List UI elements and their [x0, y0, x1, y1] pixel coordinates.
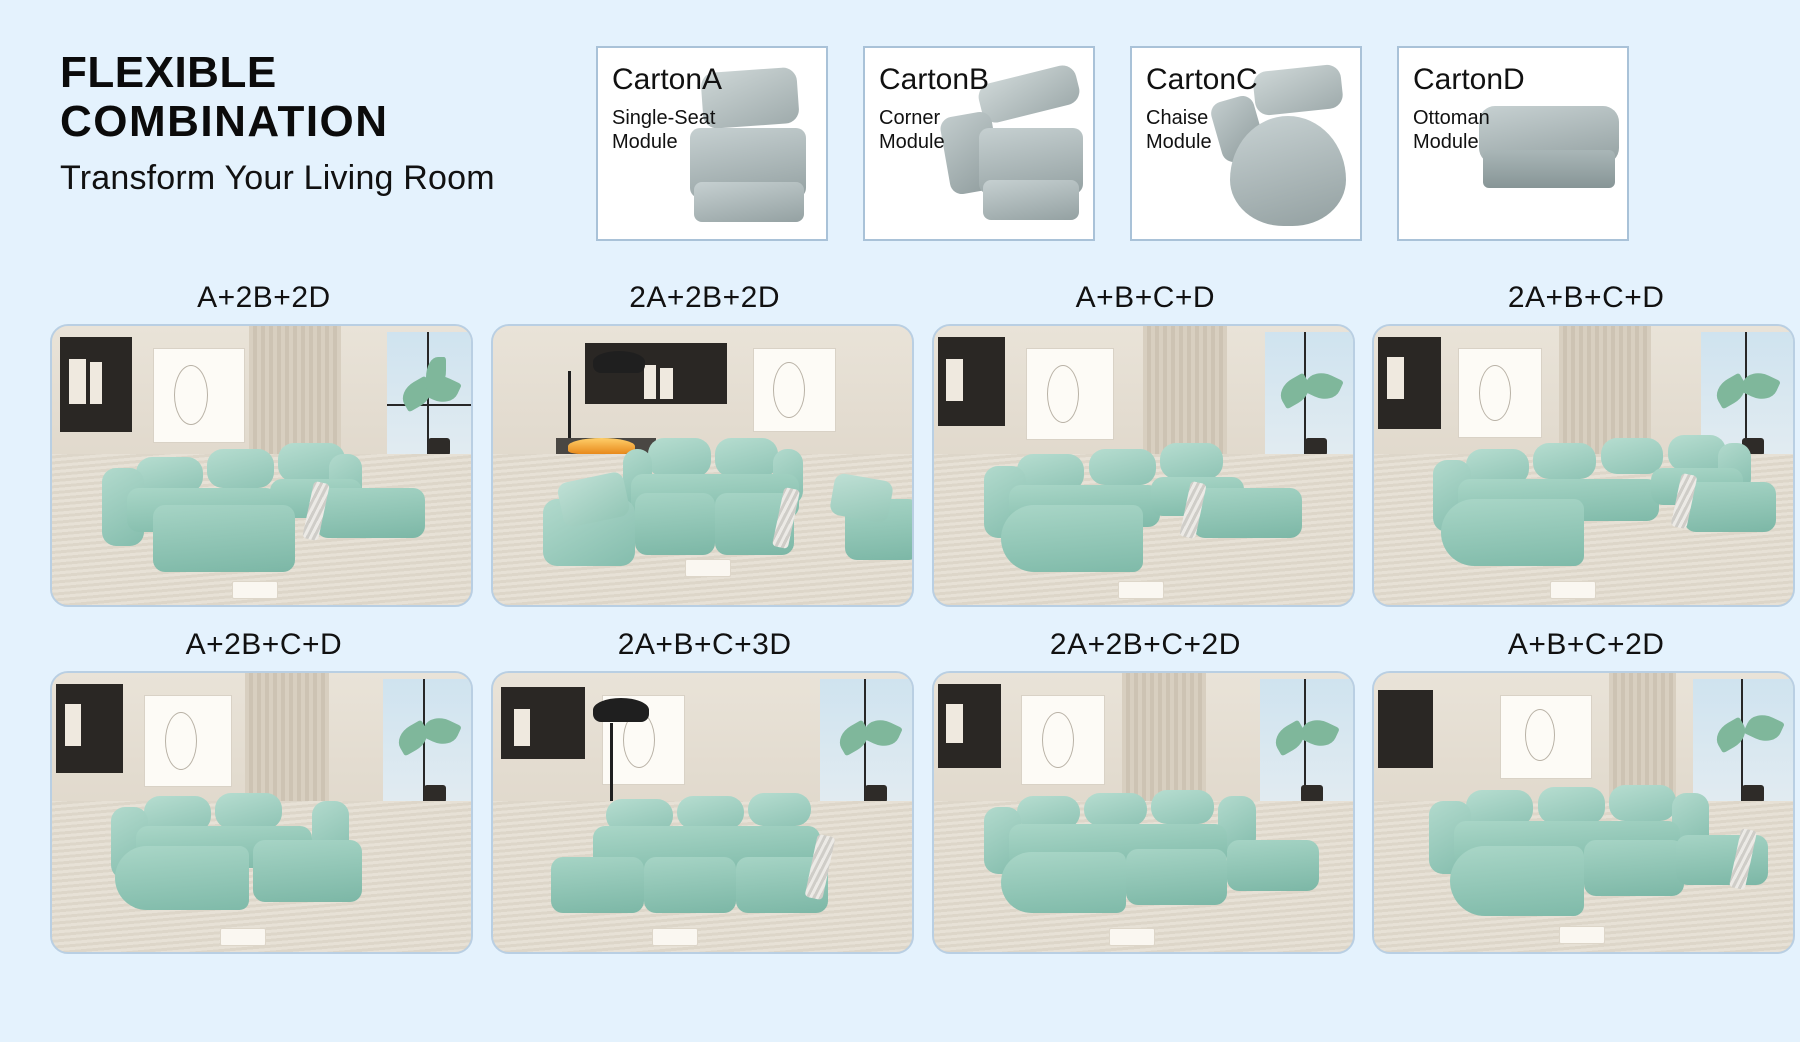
carton-b-desc: Corner Module: [879, 106, 1004, 155]
room-scene: [934, 673, 1353, 952]
carton-d-name: CartonD: [1413, 64, 1538, 96]
room-scene: [52, 326, 471, 605]
carton-b-name: CartonB: [879, 64, 1004, 96]
combination-cell-a2b2d[interactable]: A+2B+2D: [50, 272, 478, 607]
room-scene: [1374, 673, 1793, 952]
carton-card-b: CartonB Corner Module: [863, 46, 1095, 241]
page-subtitle: Transform Your Living Room: [60, 159, 580, 198]
title-line-2: COMBINATION: [60, 97, 580, 146]
room-scene: [493, 673, 912, 952]
carton-a-name: CartonA: [612, 64, 737, 96]
carton-a-text: CartonA Single-Seat Module: [612, 64, 737, 154]
combination-label: A+B+C+2D: [1372, 619, 1800, 671]
page-title: FLEXIBLE COMBINATION: [60, 48, 580, 147]
combination-grid: A+2B+2D: [0, 272, 1800, 954]
carton-card-a: CartonA Single-Seat Module: [596, 46, 828, 241]
combination-cell-2abc3d[interactable]: 2A+B+C+3D: [491, 619, 919, 954]
combination-label: 2A+B+C+3D: [491, 619, 919, 671]
carton-b-text: CartonB Corner Module: [879, 64, 1004, 154]
combination-photo[interactable]: [932, 324, 1355, 607]
combination-cell-abcd[interactable]: A+B+C+D: [932, 272, 1360, 607]
combination-cell-2abcd[interactable]: 2A+B+C+D: [1372, 272, 1800, 607]
combination-photo[interactable]: [491, 671, 914, 954]
combination-photo[interactable]: [1372, 324, 1795, 607]
carton-c-text: CartonC Chaise Module: [1146, 64, 1271, 154]
combination-label: 2A+2B+C+2D: [932, 619, 1360, 671]
combination-photo[interactable]: [491, 324, 914, 607]
carton-c-name: CartonC: [1146, 64, 1271, 96]
combination-cell-a2bcd[interactable]: A+2B+C+D: [50, 619, 478, 954]
combination-cell-2a2b2d[interactable]: 2A+2B+2D: [491, 272, 919, 607]
room-scene: [52, 673, 471, 952]
combination-label: A+2B+C+D: [50, 619, 478, 671]
combination-label: 2A+B+C+D: [1372, 272, 1800, 324]
combination-cell-abc2d[interactable]: A+B+C+2D: [1372, 619, 1800, 954]
room-scene: [1374, 326, 1793, 605]
carton-d-desc: Ottoman Module: [1413, 106, 1538, 155]
combination-cell-2a2bc2d[interactable]: 2A+2B+C+2D: [932, 619, 1360, 954]
carton-c-desc: Chaise Module: [1146, 106, 1271, 155]
combination-label: A+B+C+D: [932, 272, 1360, 324]
carton-legend: CartonA Single-Seat Module CartonB Corne…: [596, 46, 1629, 241]
flexible-combination-poster: FLEXIBLE COMBINATION Transform Your Livi…: [0, 0, 1800, 1042]
room-scene: [934, 326, 1353, 605]
combination-photo[interactable]: [50, 324, 473, 607]
carton-a-desc: Single-Seat Module: [612, 106, 737, 155]
room-scene: [493, 326, 912, 605]
combination-photo[interactable]: [50, 671, 473, 954]
combination-label: 2A+2B+2D: [491, 272, 919, 324]
header: FLEXIBLE COMBINATION Transform Your Livi…: [60, 48, 580, 198]
combination-row-2: A+2B+C+D: [0, 619, 1800, 954]
combination-photo[interactable]: [932, 671, 1355, 954]
combination-label: A+2B+2D: [50, 272, 478, 324]
combination-photo[interactable]: [1372, 671, 1795, 954]
title-line-1: FLEXIBLE: [60, 48, 580, 97]
carton-d-text: CartonD Ottoman Module: [1413, 64, 1538, 154]
carton-card-c: CartonC Chaise Module: [1130, 46, 1362, 241]
combination-row-1: A+2B+2D: [0, 272, 1800, 607]
carton-card-d: CartonD Ottoman Module: [1397, 46, 1629, 241]
